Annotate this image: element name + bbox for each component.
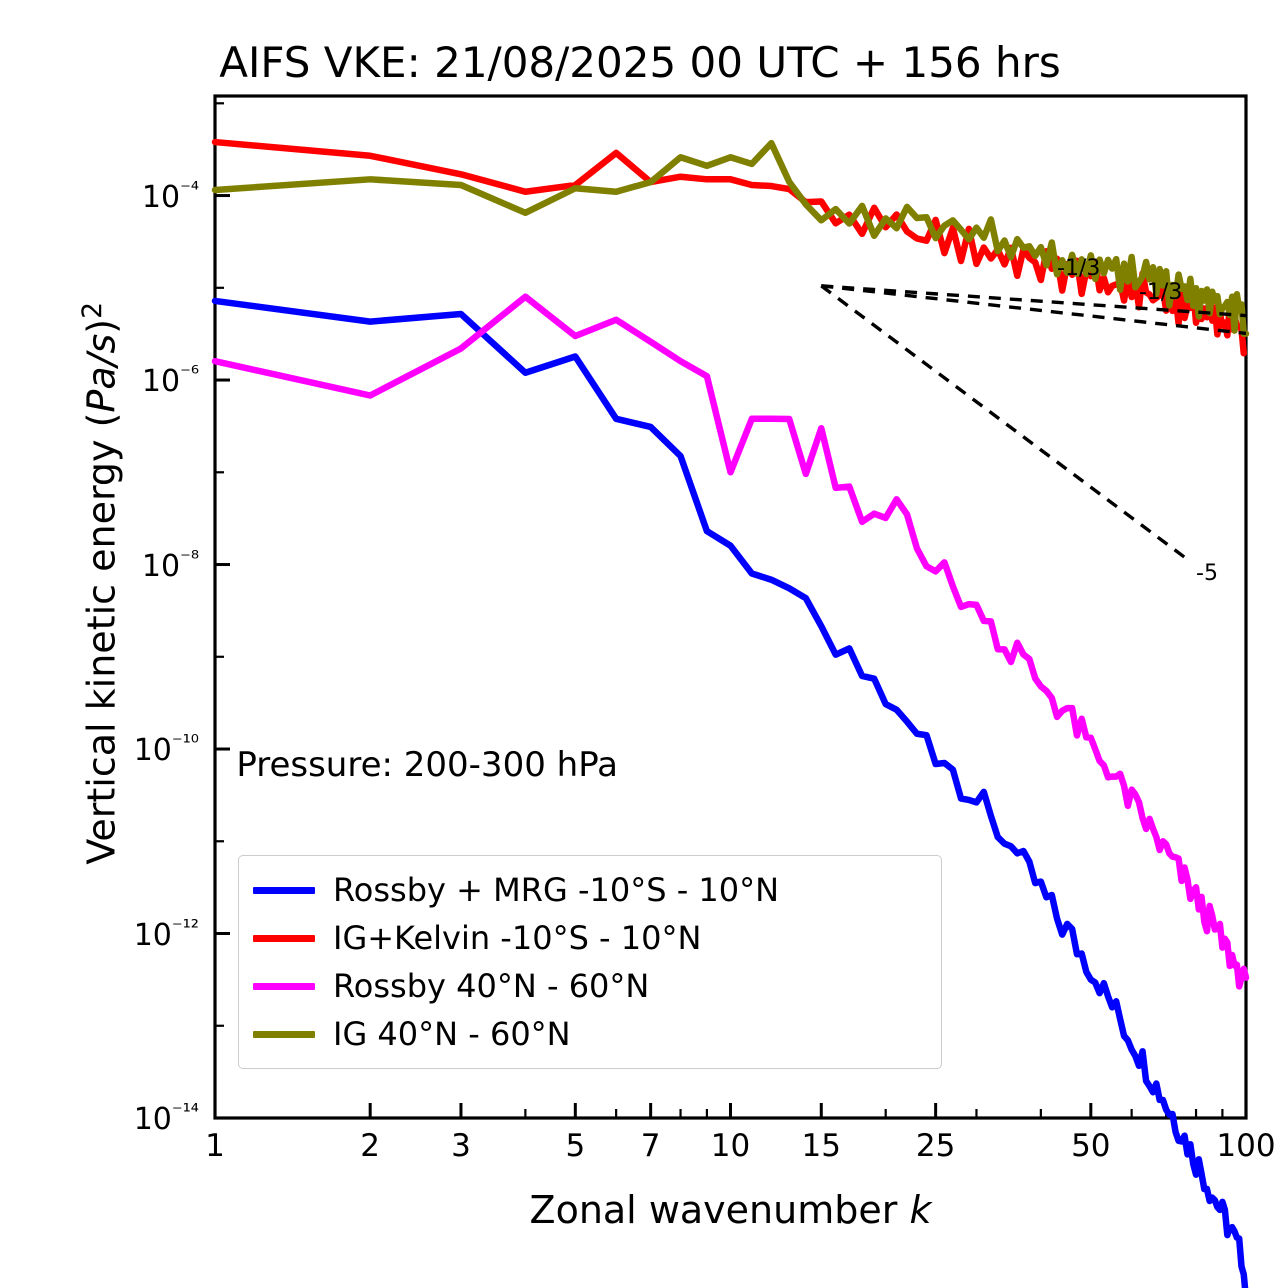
slope-label-lower: -1/3 bbox=[1139, 280, 1182, 305]
legend-swatch bbox=[253, 1031, 315, 1038]
legend-item-0[interactable]: Rossby + MRG -10°S - 10°N bbox=[253, 866, 925, 914]
chart-figure: AIFS VKE: 21/08/2025 00 UTC + 156 hrs Ve… bbox=[0, 0, 1280, 1288]
legend-swatch bbox=[253, 935, 315, 942]
slope-label-minus5: -5 bbox=[1196, 561, 1218, 586]
legend-label: IG+Kelvin -10°S - 10°N bbox=[333, 922, 701, 954]
x-tick-label: 3 bbox=[451, 1128, 471, 1164]
x-tick-label: 5 bbox=[565, 1128, 585, 1164]
y-tick-label: 10⁻⁴ bbox=[0, 177, 199, 215]
y-tick-label: 10⁻¹² bbox=[0, 915, 199, 953]
legend-label: Rossby 40°N - 60°N bbox=[333, 970, 649, 1002]
series-line-3 bbox=[215, 143, 1246, 334]
x-tick-label: 15 bbox=[802, 1128, 841, 1164]
x-tick-label: 50 bbox=[1071, 1128, 1110, 1164]
x-tick-label: 7 bbox=[641, 1128, 661, 1164]
legend-swatch bbox=[253, 983, 315, 990]
legend-label: IG 40°N - 60°N bbox=[333, 1018, 571, 1050]
pressure-annotation: Pressure: 200-300 hPa bbox=[236, 745, 618, 785]
x-tick-label: 2 bbox=[360, 1128, 380, 1164]
y-tick-label: 10⁻¹⁰ bbox=[0, 730, 199, 768]
y-tick-label: 10⁻¹⁴ bbox=[0, 1099, 199, 1137]
chart-legend[interactable]: Rossby + MRG -10°S - 10°NIG+Kelvin -10°S… bbox=[238, 855, 942, 1069]
legend-swatch bbox=[253, 887, 315, 894]
y-tick-label: 10⁻⁸ bbox=[0, 546, 199, 584]
x-tick-label: 1 bbox=[205, 1128, 225, 1164]
legend-item-2[interactable]: Rossby 40°N - 60°N bbox=[253, 962, 925, 1010]
y-tick-label: 10⁻⁶ bbox=[0, 361, 199, 399]
x-tick-label: 100 bbox=[1216, 1128, 1275, 1164]
legend-label: Rossby + MRG -10°S - 10°N bbox=[333, 874, 779, 906]
x-tick-label: 25 bbox=[916, 1128, 955, 1164]
x-tick-label: 10 bbox=[711, 1128, 750, 1164]
slope-label-upper: -1/3 bbox=[1057, 256, 1100, 281]
legend-item-1[interactable]: IG+Kelvin -10°S - 10°N bbox=[253, 914, 925, 962]
legend-item-3[interactable]: IG 40°N - 60°N bbox=[253, 1010, 925, 1058]
